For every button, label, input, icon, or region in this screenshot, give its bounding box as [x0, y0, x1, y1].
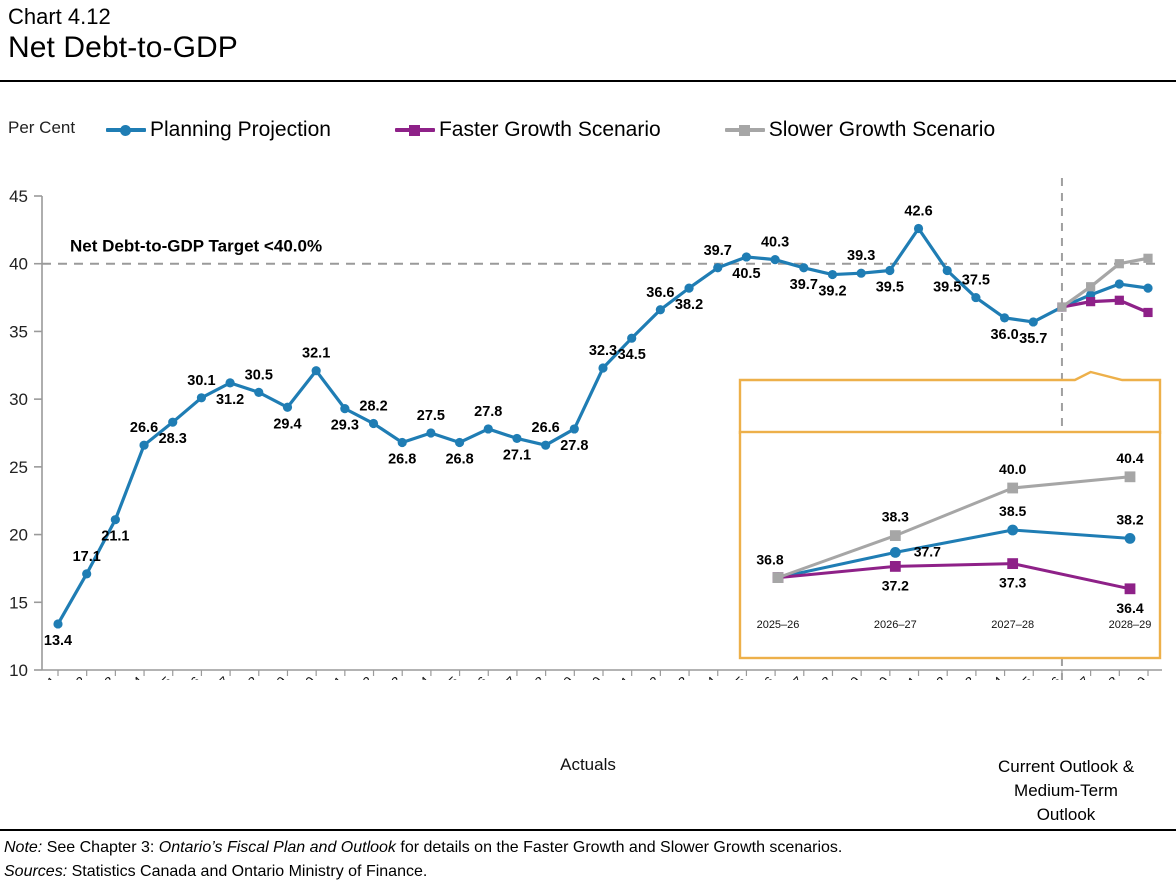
data-label-2009–10: 32.3 — [589, 343, 617, 359]
inset-callout-bracket — [740, 372, 1160, 434]
data-label-1997–98: 30.5 — [245, 367, 273, 383]
data-point-faster-growth-scenario-2027–28 — [1115, 296, 1124, 305]
data-point-slower-growth-scenario-2027–28 — [1115, 259, 1124, 268]
chart-footnotes: Note: See Chapter 3: Ontario’s Fiscal Pl… — [4, 836, 842, 884]
data-point-planning-projection-2000–01 — [340, 404, 349, 413]
inset-data-label-shared-2025-26: 36.8 — [756, 552, 783, 568]
data-point-planning-projection-1993–94 — [139, 441, 148, 450]
data-point-planning-projection-2010–11 — [627, 334, 636, 343]
y-axis-tick-label: 15 — [9, 593, 28, 612]
legend-label-slower-growth-scenario: Slower Growth Scenario — [769, 118, 995, 142]
inset-data-point-faster-growth-scenario-2027–28 — [1007, 558, 1018, 569]
data-point-faster-growth-scenario-2026–27 — [1086, 297, 1095, 306]
legend-swatch-slower-growth-scenario — [725, 121, 765, 139]
y-axis-unit-label: Per Cent — [8, 118, 75, 138]
data-label-1992–93: 21.1 — [101, 529, 129, 545]
inset-data-label-slower-2027-28: 40.0 — [999, 461, 1026, 477]
data-label-1993–94: 26.6 — [130, 420, 158, 436]
footer-divider — [0, 829, 1176, 831]
data-label-1999–00: 32.1 — [302, 346, 330, 362]
data-label-2012–13: 38.2 — [675, 297, 703, 313]
header-divider — [0, 80, 1176, 82]
data-label-2022–23: 37.5 — [962, 273, 990, 289]
outlook-bracket-label: Current Outlook & Medium-Term Outlook — [966, 755, 1166, 827]
legend-swatch-planning-projection — [106, 121, 146, 139]
data-label-2016–17: 39.7 — [790, 277, 818, 293]
data-point-planning-projection-2017–18 — [828, 270, 837, 279]
data-point-planning-projection-2022–23 — [971, 293, 980, 302]
y-axis-tick-label: 10 — [9, 661, 28, 680]
data-label-2002–03: 26.8 — [388, 451, 416, 467]
data-point-planning-projection-1990–91 — [53, 619, 62, 628]
y-axis-tick-label: 45 — [9, 187, 28, 206]
data-point-planning-projection-2002–03 — [398, 438, 407, 447]
inset-data-point-faster-growth-scenario-2026–27 — [890, 561, 901, 572]
legend-label-faster-growth-scenario: Faster Growth Scenario — [439, 118, 661, 142]
chart-plot-area: 4540353025201510 Net Debt-to-GDP Target … — [0, 160, 1176, 680]
data-label-2010–11: 34.5 — [618, 347, 646, 363]
data-label-2008–09: 27.8 — [560, 438, 588, 454]
sources-line: Sources: Statistics Canada and Ontario M… — [4, 860, 842, 884]
inset-data-point-slower-growth-scenario-2027–28 — [1007, 483, 1018, 494]
data-label-2001–02: 28.2 — [359, 399, 387, 415]
data-label-2024–25: 35.7 — [1019, 331, 1047, 347]
data-point-planning-projection-2018–19 — [857, 269, 866, 278]
inset-data-point-planning-projection-2026–27 — [890, 547, 901, 558]
data-label-2014–15: 40.5 — [732, 266, 760, 282]
legend-label-planning-projection: Planning Projection — [150, 118, 331, 142]
data-label-2015–16: 40.3 — [761, 235, 789, 251]
inset-data-label-faster-2027-28: 37.3 — [999, 575, 1026, 591]
inset-data-point-slower-growth-scenario-2026–27 — [890, 530, 901, 541]
data-label-2011–12: 36.6 — [646, 285, 674, 301]
data-label-1998–99: 29.4 — [273, 416, 301, 432]
data-point-slower-growth-scenario-2028–29 — [1143, 254, 1152, 263]
data-label-2000–01: 29.3 — [331, 418, 359, 434]
inset-data-point-planning-projection-2027–28 — [1007, 525, 1018, 536]
chart-header: Chart 4.12 Net Debt-to-GDP — [8, 4, 238, 66]
data-label-2013–14: 39.7 — [704, 243, 732, 259]
data-label-2005–06: 27.8 — [474, 404, 502, 420]
inset-data-label-faster-2026-27: 37.2 — [882, 577, 909, 593]
data-point-planning-projection-1991–92 — [82, 569, 91, 578]
data-point-planning-projection-1997–98 — [254, 388, 263, 397]
inset-data-label-slower-2026-27: 38.3 — [882, 509, 909, 525]
data-label-2021–22: 39.5 — [933, 279, 961, 295]
legend-item-planning-projection[interactable]: Planning Projection — [106, 118, 331, 142]
data-point-planning-projection-2005–06 — [484, 424, 493, 433]
note-italic-title: Ontario’s Fiscal Plan and Outlook — [159, 839, 396, 856]
data-label-2007–08: 26.6 — [532, 420, 560, 436]
data-point-planning-projection-2019–20 — [885, 266, 894, 275]
data-label-1994–95: 28.3 — [159, 431, 187, 447]
data-label-1995–96: 30.1 — [187, 373, 215, 389]
inset-data-label-planning-2027-28: 38.5 — [999, 503, 1026, 519]
data-point-planning-projection-1994–95 — [168, 418, 177, 427]
data-label-2006–07: 27.1 — [503, 447, 531, 463]
inset-x-axis-label-2028–29: 2028–29 — [1109, 619, 1152, 631]
chart-number: Chart 4.12 — [8, 4, 238, 30]
data-point-planning-projection-1992–93 — [111, 515, 120, 524]
y-axis-tick-label: 30 — [9, 390, 28, 409]
legend-item-faster-growth-scenario[interactable]: Faster Growth Scenario — [395, 118, 661, 142]
data-point-planning-projection-2015–16 — [771, 255, 780, 264]
data-point-planning-projection-2004–05 — [455, 438, 464, 447]
sources-text: Statistics Canada and Ontario Ministry o… — [67, 863, 427, 880]
target-threshold-label: Net Debt-to-GDP Target <40.0% — [70, 237, 322, 256]
data-point-planning-projection-2021–22 — [943, 266, 952, 275]
data-point-planning-projection-1995–96 — [197, 393, 206, 402]
data-point-planning-projection-1999–00 — [312, 366, 321, 375]
y-axis-tick-label: 40 — [9, 255, 28, 274]
data-point-planning-projection-2027–28 — [1115, 279, 1124, 288]
y-axis-tick-label: 25 — [9, 458, 28, 477]
data-point-planning-projection-2007–08 — [541, 441, 550, 450]
legend-item-slower-growth-scenario[interactable]: Slower Growth Scenario — [725, 118, 995, 142]
inset-data-point-planning-projection-2028–29 — [1125, 533, 1136, 544]
data-label-2018–19: 39.3 — [847, 248, 875, 264]
data-label-2019–20: 39.5 — [876, 279, 904, 295]
data-point-faster-growth-scenario-2028–29 — [1143, 308, 1152, 317]
data-label-2020–21: 42.6 — [904, 204, 932, 220]
outlook-bracket-line-2: Medium-Term — [966, 779, 1166, 803]
inset-box — [740, 432, 1160, 658]
inset-x-axis-label-2027–28: 2027–28 — [991, 619, 1034, 631]
data-point-planning-projection-2006–07 — [512, 434, 521, 443]
data-point-planning-projection-1998–99 — [283, 403, 292, 412]
page-title: Net Debt-to-GDP — [8, 30, 238, 66]
inset-chart-layer: 36.837.738.538.237.237.336.438.340.040.4… — [740, 432, 1160, 658]
data-label-1990–91: 13.4 — [44, 633, 72, 649]
legend-swatch-faster-growth-scenario — [395, 121, 435, 139]
data-point-planning-projection-2013–14 — [713, 263, 722, 272]
chart-legend: Planning Projection Faster Growth Scenar… — [106, 118, 995, 142]
data-point-planning-projection-1996–97 — [226, 378, 235, 387]
net-debt-to-gdp-line-chart: 4540353025201510 Net Debt-to-GDP Target … — [0, 160, 1176, 680]
data-label-2003–04: 27.5 — [417, 408, 445, 424]
data-label-1991–92: 17.1 — [73, 549, 101, 565]
data-point-planning-projection-2011–12 — [656, 305, 665, 314]
data-point-planning-projection-2014–15 — [742, 252, 751, 261]
data-label-2017–18: 39.2 — [818, 284, 846, 300]
data-label-2004–05: 26.8 — [445, 451, 473, 467]
outlook-bracket-line-1: Current Outlook & — [966, 755, 1166, 779]
inset-data-point-slower-growth-scenario-2025–26 — [773, 572, 784, 583]
data-point-planning-projection-2016–17 — [799, 263, 808, 272]
inset-data-point-slower-growth-scenario-2028–29 — [1125, 471, 1136, 482]
inset-data-label-planning-2026-27: 37.7 — [914, 543, 941, 559]
data-label-2023–24: 36.0 — [990, 327, 1018, 343]
data-point-planning-projection-2024–25 — [1029, 317, 1038, 326]
x-tick-labels-layer: 1990–911991–921992–931993–941994–951995–… — [12, 673, 1150, 680]
note-prefix: Note: — [4, 839, 42, 856]
outlook-bracket-line-3: Outlook — [966, 803, 1166, 827]
note-line: Note: See Chapter 3: Ontario’s Fiscal Pl… — [4, 836, 842, 860]
y-axis-tick-label: 20 — [9, 526, 28, 545]
data-point-planning-projection-2012–13 — [684, 283, 693, 292]
note-text-a: See Chapter 3: — [42, 839, 159, 856]
data-point-slower-growth-scenario-2026–27 — [1086, 282, 1095, 291]
inset-callout-layer — [740, 372, 1160, 434]
data-point-planning-projection-2028–29 — [1143, 283, 1152, 292]
y-axis-tick-label: 35 — [9, 322, 28, 341]
target-threshold-layer: Net Debt-to-GDP Target <40.0% — [42, 237, 1162, 264]
data-label-1996–97: 31.2 — [216, 392, 244, 408]
data-point-planning-projection-2008–09 — [570, 424, 579, 433]
inset-x-axis-label-2025–26: 2025–26 — [757, 619, 800, 631]
data-point-planning-projection-2023–24 — [1000, 313, 1009, 322]
sources-prefix: Sources: — [4, 863, 67, 880]
data-point-planning-projection-2020–21 — [914, 224, 923, 233]
inset-data-label-faster-2028-29: 36.4 — [1116, 600, 1143, 616]
inset-data-label-slower-2028-29: 40.4 — [1116, 450, 1143, 466]
data-point-slower-growth-scenario-2025–26 — [1057, 302, 1066, 311]
inset-data-point-faster-growth-scenario-2028–29 — [1125, 583, 1136, 594]
data-point-planning-projection-2001–02 — [369, 419, 378, 428]
data-point-planning-projection-2003–04 — [426, 428, 435, 437]
data-point-planning-projection-2009–10 — [598, 363, 607, 372]
inset-x-axis-label-2026–27: 2026–27 — [874, 619, 917, 631]
note-text-b: for details on the Faster Growth and Slo… — [396, 839, 842, 856]
inset-data-label-planning-2028-29: 38.2 — [1116, 511, 1143, 527]
